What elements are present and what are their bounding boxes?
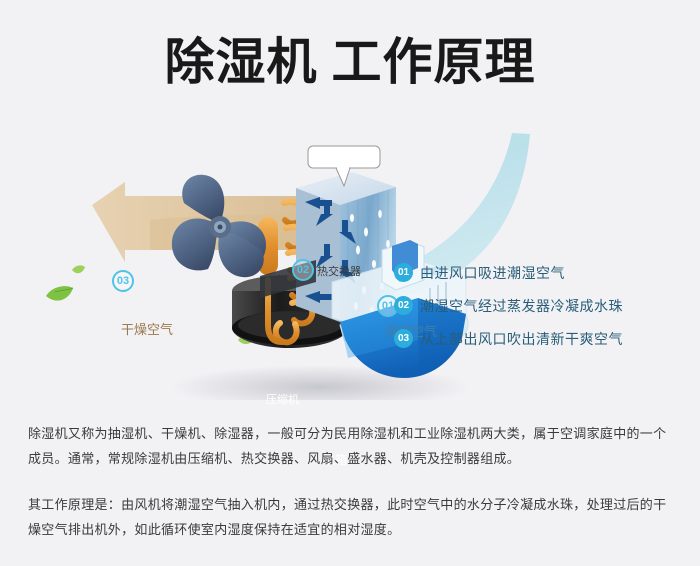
diagram-badge-02: 02 <box>292 259 314 281</box>
legend-item: 03 从上部出风口吹出清新干爽空气 <box>394 322 694 355</box>
diagram-graphics <box>0 110 700 400</box>
legend-list: 01 由进风口吸进潮湿空气 02 潮湿空气经过蒸发器冷凝成水珠 03 从上部出风… <box>394 256 694 355</box>
legend-text-01: 由进风口吸进潮湿空气 <box>420 263 565 283</box>
paragraph-definition: 除湿机又称为抽湿机、干燥机、除湿器，一般可分为民用除湿机和工业除湿机两大类，属于… <box>28 421 676 471</box>
legend-badge-01: 01 <box>394 263 413 282</box>
legend-item: 02 潮湿空气经过蒸发器冷凝成水珠 <box>394 289 694 322</box>
page-title-part1: 除湿机 <box>165 34 318 90</box>
label-heat-exchanger: 热交换器 <box>317 263 361 279</box>
label-compressor: 压缩机 <box>266 391 299 407</box>
page-root: 除湿机工作原理 <box>0 0 700 566</box>
diagram-badge-03: 03 <box>112 270 134 292</box>
description-block: 除湿机又称为抽湿机、干燥机、除湿器，一般可分为民用除湿机和工业除湿机两大类，属于… <box>28 421 676 542</box>
paragraph-principle: 其工作原理是：由风机将潮湿空气抽入机内，通过热交换器，此时空气中的水分子冷凝成水… <box>28 492 676 542</box>
label-dry-air: 干燥空气 <box>121 319 173 338</box>
legend-badge-03: 03 <box>394 329 413 348</box>
fan-icon <box>172 175 266 277</box>
page-title-part2: 工作原理 <box>332 34 536 90</box>
page-title: 除湿机工作原理 <box>0 32 700 92</box>
legend-text-02: 潮湿空气经过蒸发器冷凝成水珠 <box>420 296 623 316</box>
legend-badge-02: 02 <box>394 296 413 315</box>
legend-item: 01 由进风口吸进潮湿空气 <box>394 256 694 289</box>
legend-text-03: 从上部出风口吹出清新干爽空气 <box>420 329 623 349</box>
dehumidifier-diagram: 干燥空气 潮湿空气 热交换器 压缩机 水箱 03 02 01 <box>0 110 700 400</box>
